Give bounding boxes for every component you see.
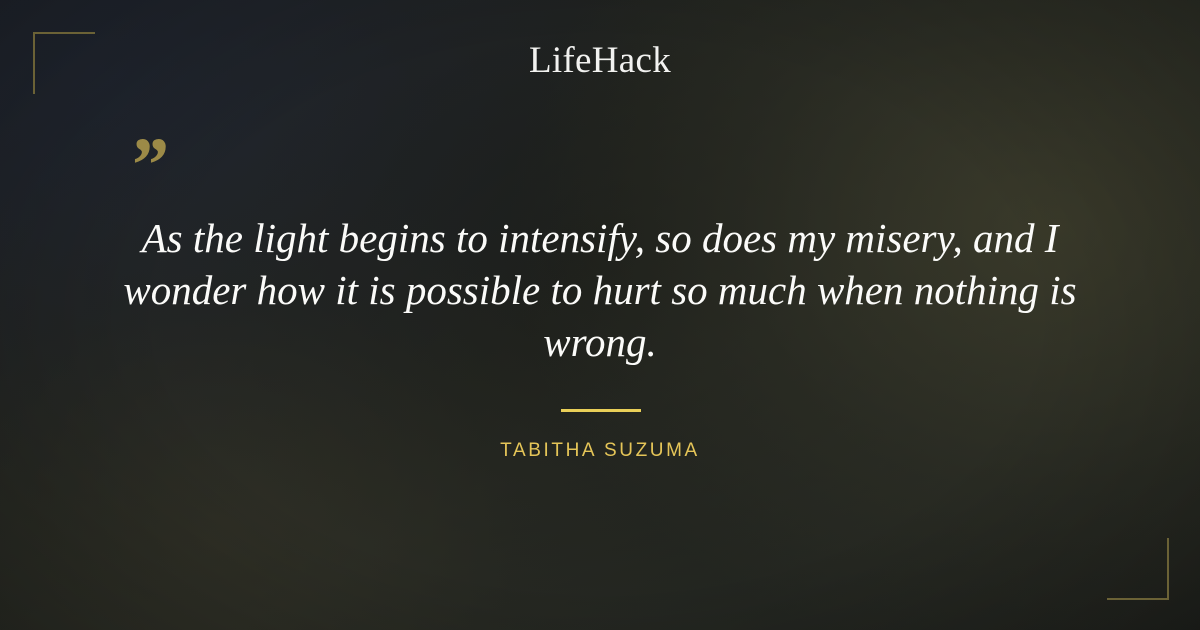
divider-rule	[561, 409, 641, 412]
quote-card: LifeHack ” As the light begins to intens…	[0, 0, 1200, 630]
brand-logo: LifeHack	[0, 38, 1200, 84]
quote-line: wrong.	[100, 316, 1100, 368]
quote-text: As the light begins to intensify, so doe…	[100, 212, 1100, 368]
quote-line: wonder how it is possible to hurt so muc…	[100, 264, 1100, 316]
quote-line: As the light begins to intensify, so doe…	[100, 212, 1100, 264]
quote-mark-icon: ”	[128, 126, 165, 204]
corner-bracket-bottom-right	[1107, 538, 1169, 600]
quote-author: TABITHA SUZUMA	[0, 438, 1200, 464]
